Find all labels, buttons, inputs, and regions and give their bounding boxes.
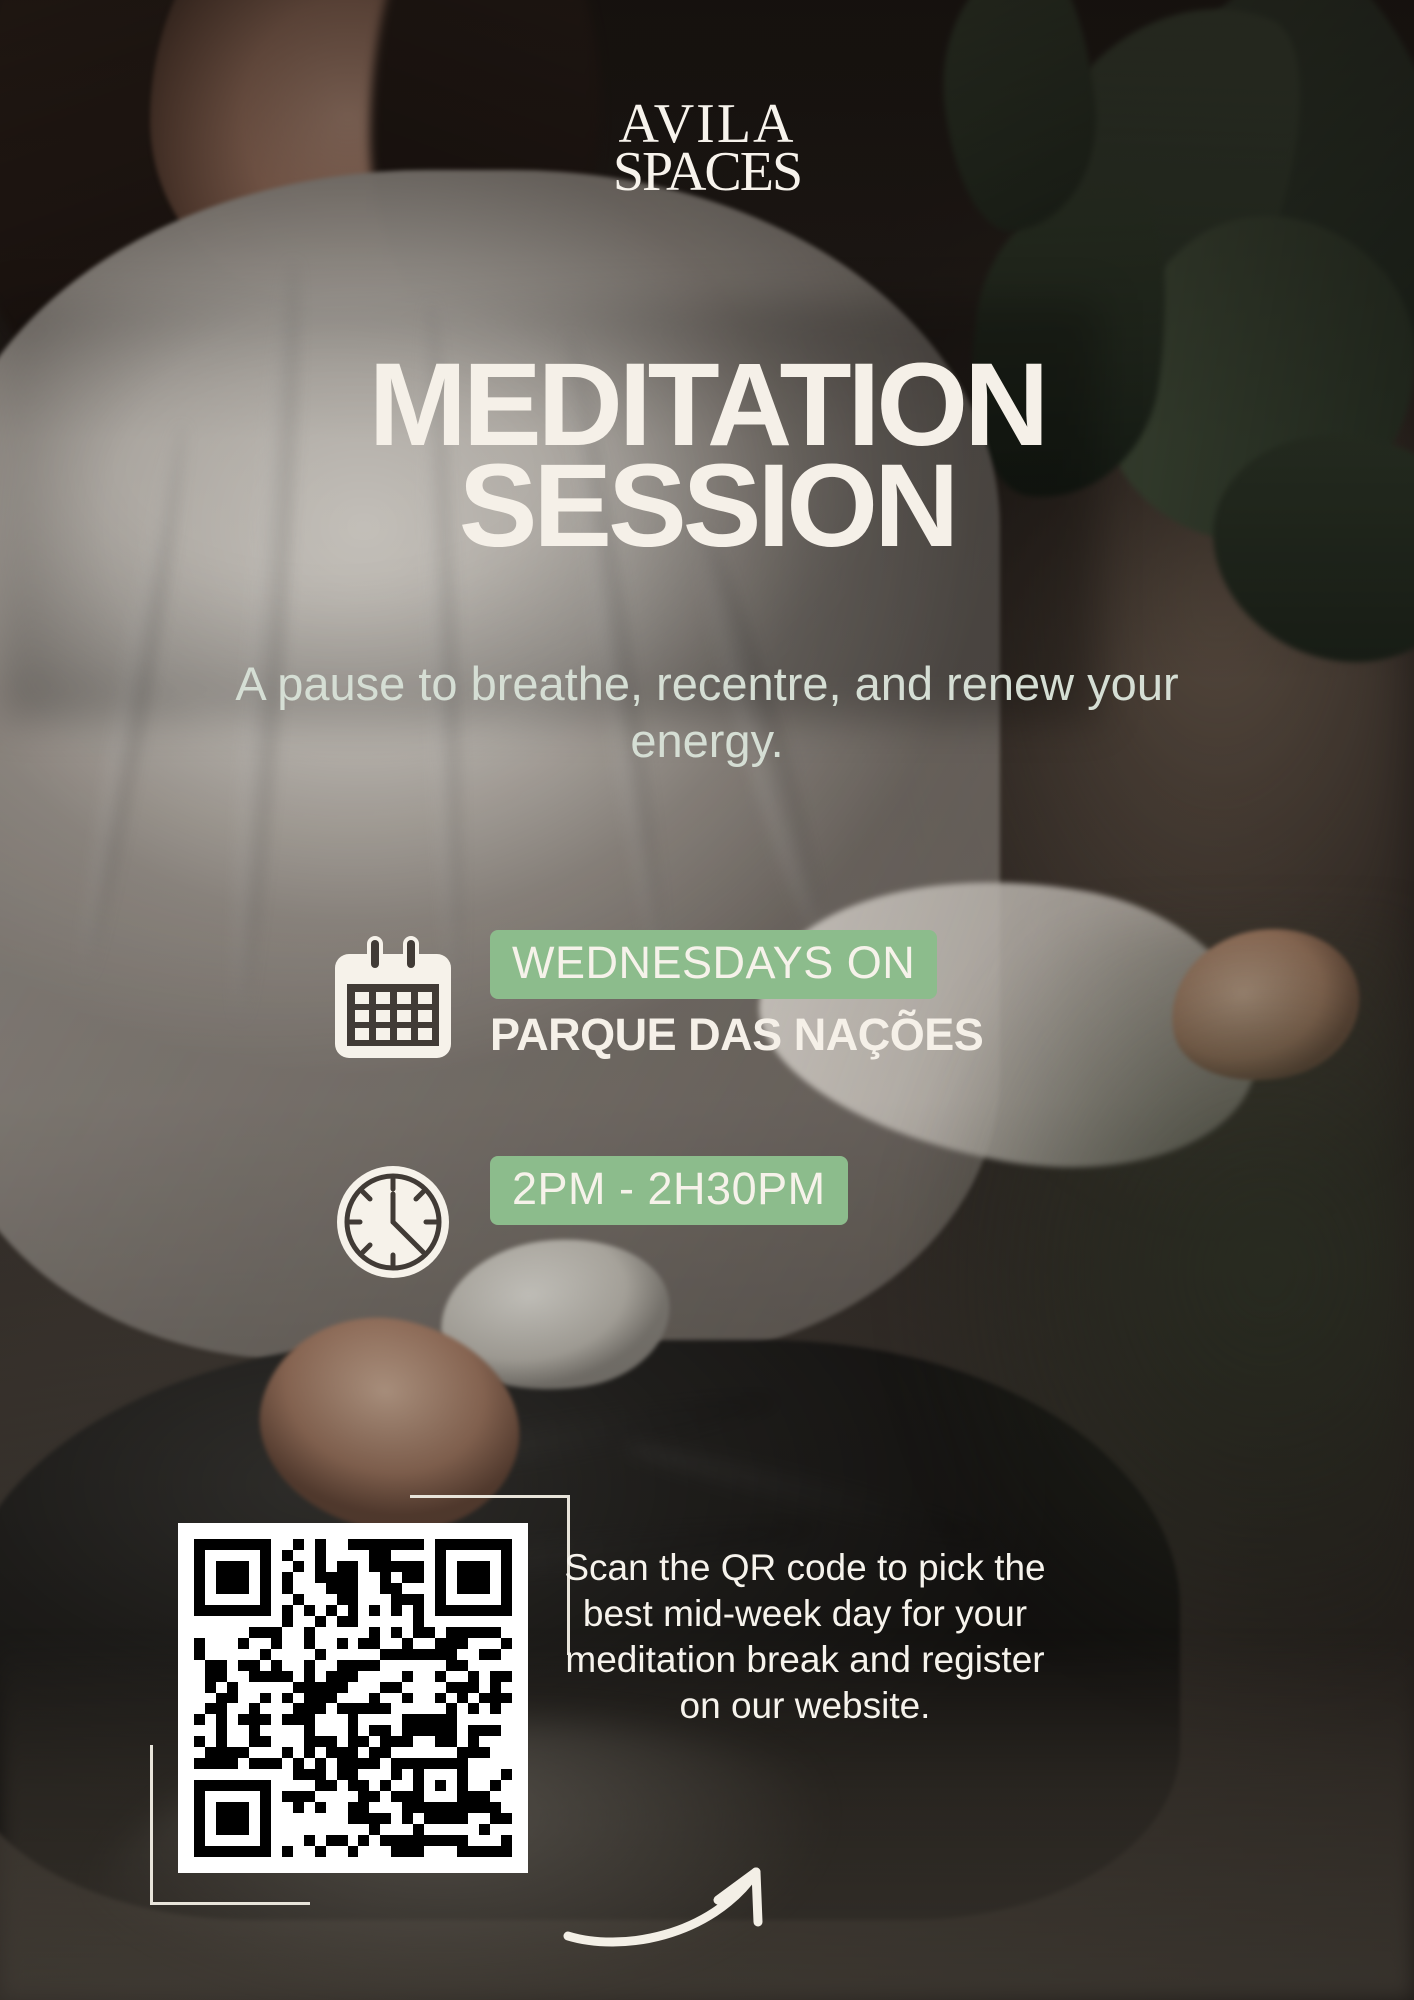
info-row-date: WEDNESDAYS ON PARQUE DAS NAÇÕES: [318, 930, 1218, 1064]
calendar-icon: [318, 930, 468, 1064]
clock-icon: [318, 1156, 468, 1282]
info-row-time: 2PM - 2H30PM: [318, 1156, 1218, 1282]
date-badge: WEDNESDAYS ON: [490, 930, 937, 999]
qr-code[interactable]: [178, 1523, 528, 1873]
time-badge: 2PM - 2H30PM: [490, 1156, 848, 1225]
poster-content: AVILA SPACES MEDITATION SESSION A pause …: [0, 0, 1414, 2000]
location-label: PARQUE DAS NAÇÕES: [490, 1009, 1218, 1061]
title-line-2: SESSION: [0, 456, 1414, 557]
subtitle: A pause to breathe, recentre, and renew …: [210, 655, 1204, 770]
brand-line-2: SPACES: [0, 148, 1414, 196]
brand-logo: AVILA SPACES: [0, 100, 1414, 196]
date-row-text: WEDNESDAYS ON PARQUE DAS NAÇÕES: [468, 930, 1218, 1061]
time-row-text: 2PM - 2H30PM: [468, 1156, 1218, 1225]
info-list: WEDNESDAYS ON PARQUE DAS NAÇÕES: [318, 930, 1218, 1282]
curved-arrow-icon: [560, 1760, 840, 1950]
poster: AVILA SPACES MEDITATION SESSION A pause …: [0, 0, 1414, 2000]
qr-block: [150, 1495, 570, 1905]
qr-caption: Scan the QR code to pick the best mid-we…: [560, 1545, 1050, 1729]
page-title: MEDITATION SESSION: [0, 355, 1414, 558]
qr-modules: [194, 1539, 512, 1857]
